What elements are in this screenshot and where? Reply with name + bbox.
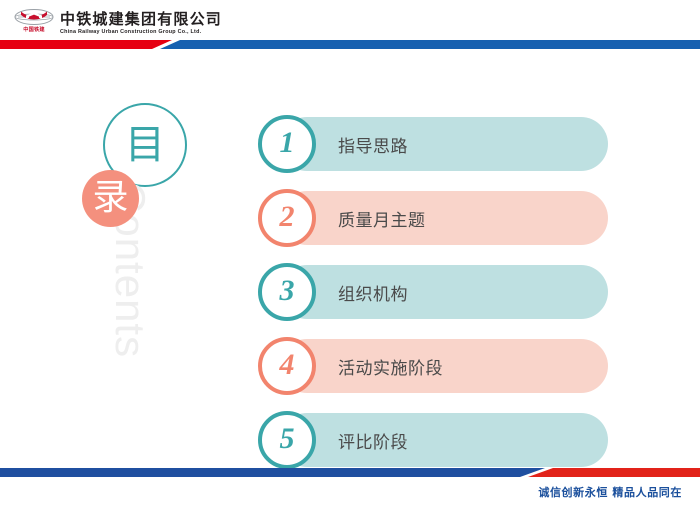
toc-number-circle-4: 4: [258, 337, 316, 395]
toc-label-1: 指导思路: [338, 115, 408, 173]
toc-label-4: 活动实施阶段: [338, 337, 443, 395]
toc-number-circle-3: 3: [258, 263, 316, 321]
toc-label-2: 质量月主题: [338, 189, 426, 247]
toc-bar-4: [280, 339, 608, 393]
toc-number-circle-5: 5: [258, 411, 316, 469]
toc-item-4[interactable]: 4 活动实施阶段: [258, 337, 608, 395]
toc-item-5[interactable]: 5 评比阶段: [258, 411, 608, 469]
slide-canvas: 中国铁建 中铁城建集团有限公司 China Railway Urban Cons…: [0, 0, 700, 525]
bottom-bar-left-blue: [0, 468, 545, 477]
toc-label-5: 评比阶段: [338, 411, 408, 469]
footer-slogan: 诚信创新永恒 精品人品同在: [538, 484, 682, 500]
toc-item-1[interactable]: 1 指导思路: [258, 115, 608, 173]
toc-bar-2: [280, 191, 608, 245]
toc-number-circle-1: 1: [258, 115, 316, 173]
toc-bar-3: [280, 265, 608, 319]
toc-item-2[interactable]: 2 质量月主题: [258, 189, 608, 247]
toc-number-5: 5: [280, 424, 295, 454]
toc-label-3: 组织机构: [338, 263, 408, 321]
bottom-accent-bar: [0, 468, 700, 477]
toc-number-2: 2: [280, 202, 295, 232]
toc-list: 1 指导思路 2 质量月主题 3 组织机构 4 活动实施阶段: [0, 0, 700, 525]
bottom-bar-right-red: [528, 468, 700, 477]
toc-number-1: 1: [280, 128, 295, 158]
toc-bar-5: [280, 413, 608, 467]
toc-number-3: 3: [280, 276, 295, 306]
toc-number-circle-2: 2: [258, 189, 316, 247]
toc-number-4: 4: [280, 350, 295, 380]
toc-bar-1: [280, 117, 608, 171]
toc-item-3[interactable]: 3 组织机构: [258, 263, 608, 321]
